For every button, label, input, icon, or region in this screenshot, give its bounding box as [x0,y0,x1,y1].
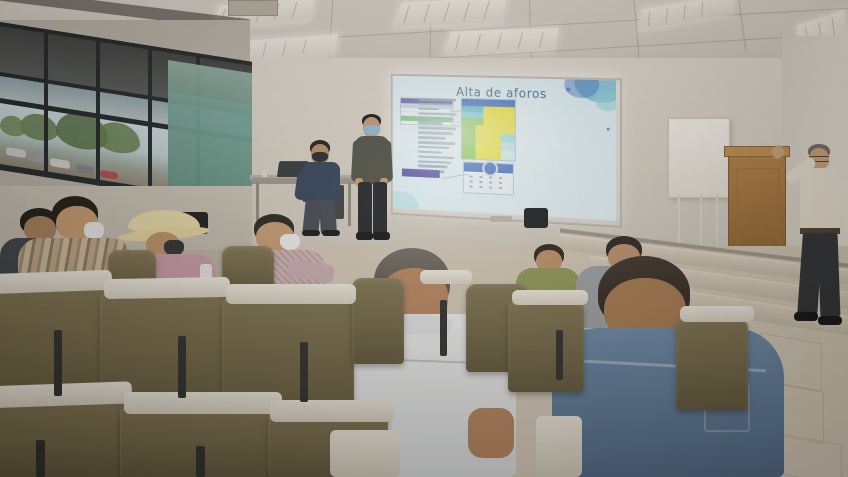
seat-support-bar [440,300,447,356]
seat-armrest [270,400,394,422]
leg [373,182,387,236]
seat-armrest [680,306,754,322]
auditorium-seat [0,396,126,477]
screen-foot [490,216,512,222]
wall-panel-teal [168,92,252,201]
face-mask [364,125,380,135]
seat-armrest [124,392,282,414]
leg [358,182,372,236]
seat-armrest [226,284,356,304]
desk-leg [348,182,351,226]
seat-armrest [420,270,472,284]
shoe [356,232,373,240]
meeting-room-photo: Alta de aforos [0,0,848,477]
leg [818,233,841,318]
ceiling-vent [228,0,278,16]
seat-support-bar [36,440,45,477]
desk-cup [262,170,267,177]
podium-panel [736,168,780,256]
seat-armrest [104,277,230,299]
face-mask [280,234,300,250]
seat-support-bar [178,336,186,398]
auditorium-seat [352,278,404,364]
seat-armrest [330,430,400,477]
auditorium-seat [676,318,748,410]
ceiling-light [445,28,558,54]
seat-armrest [512,290,588,305]
face-mask [312,152,328,162]
shoe [794,312,818,321]
seat-support-bar [196,446,205,477]
person-attendee-denim-shirt [552,256,796,477]
flipchart-board [668,118,730,198]
auditorium-seat [508,300,584,392]
seat-support-bar [54,330,62,396]
arm [381,140,393,182]
shoe [373,232,390,240]
person-presenter-at-screen [352,114,392,240]
arm [468,408,514,458]
bag-black [524,208,548,228]
screen-border [391,74,622,228]
seat-support-bar [556,330,563,380]
seat-armrest [536,416,582,477]
shoe [818,316,842,325]
seat-support-bar [300,342,308,402]
